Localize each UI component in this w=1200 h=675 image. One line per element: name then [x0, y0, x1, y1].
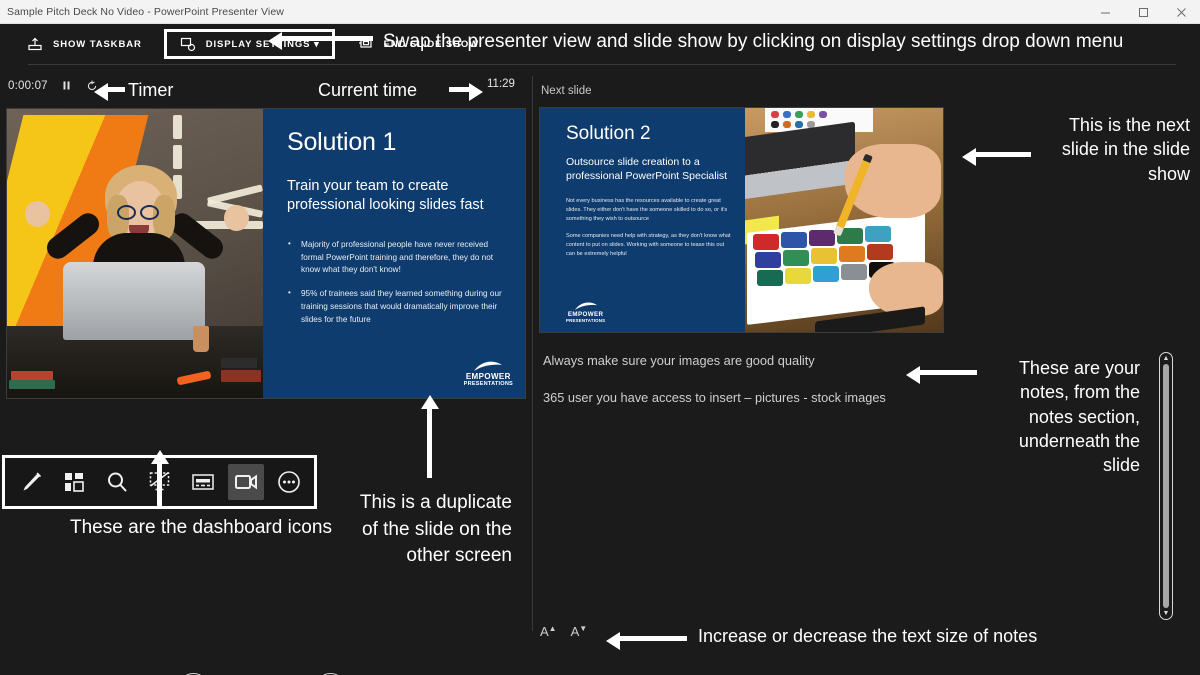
note-line: 365 user you have access to insert – pic…: [543, 389, 963, 406]
taskbar-icon: [26, 35, 44, 53]
annotation-arrowhead: [151, 450, 169, 464]
note-line: Always make sure your images are good qu…: [543, 352, 963, 369]
display-settings-button[interactable]: DISPLAY SETTINGS ▾: [164, 29, 335, 59]
window-titlebar: Sample Pitch Deck No Video - PowerPoint …: [0, 0, 1200, 24]
slide-navigation: Slide 9 of 24: [178, 671, 346, 675]
minimize-icon[interactable]: [1086, 0, 1124, 24]
annotation-dashboard-icons: These are the dashboard icons: [70, 515, 332, 542]
annotation-arrow-line: [157, 463, 162, 507]
next-slide-paragraph: Some companies need help with strategy, …: [566, 232, 733, 259]
close-icon[interactable]: [1162, 0, 1200, 24]
increase-text-size-label: A: [540, 624, 549, 639]
scroll-down-icon[interactable]: ▼: [1163, 610, 1170, 617]
pen-icon[interactable]: [13, 464, 49, 500]
current-slide-bullet: 95% of trainees said they learned someth…: [287, 288, 507, 326]
current-slide-text: Solution 1 Train your team to create pro…: [263, 109, 525, 398]
annotation-arrow-line: [619, 636, 687, 641]
annotation-arrowhead: [421, 395, 439, 409]
timer-value: 0:00:07: [8, 80, 48, 92]
toolbar-divider: [28, 64, 1176, 65]
next-slide-body: Not every business has the resources ava…: [566, 197, 733, 259]
annotation-arrow-line: [919, 370, 977, 375]
next-slide-paragraph: Not every business has the resources ava…: [566, 197, 733, 224]
current-slide-title: Solution 1: [287, 129, 507, 157]
presenter-left-pane: 0:00:07 11:29: [0, 66, 532, 675]
annotation-display-settings: Swap the presenter view and slide show b…: [383, 31, 1123, 53]
annotation-arrowhead: [469, 83, 483, 101]
annotation-duplicate-slide: This is a duplicate of the slide on the …: [340, 490, 512, 570]
annotation-arrowhead: [94, 83, 108, 101]
annotation-arrowhead: [268, 32, 282, 50]
annotation-arrowhead: [906, 366, 920, 384]
timer-group: 0:00:07: [8, 78, 100, 93]
camera-icon[interactable]: [228, 464, 264, 500]
annotation-arrow-line: [427, 408, 432, 478]
empower-presentations-logo: EMPOWER PRESENTATIONS: [464, 360, 513, 388]
current-slide-bullets: Majority of professional people have nev…: [287, 239, 507, 326]
maximize-icon[interactable]: [1124, 0, 1162, 24]
next-slide-text: Solution 2 Outsource slide creation to a…: [540, 108, 745, 332]
logo-line-1: EMPOWER: [464, 372, 513, 381]
scroll-up-icon[interactable]: ▲: [1163, 355, 1170, 362]
slide-counter-group: Slide 9 of 24: [223, 671, 301, 675]
logo-swoosh-icon: [464, 360, 513, 372]
pane-divider: [532, 76, 533, 631]
annotation-text-size: Increase or decrease the text size of no…: [698, 626, 1037, 647]
scrollbar-thumb[interactable]: [1163, 364, 1169, 608]
empower-presentations-logo: EMPOWER PRESENTATIONS: [566, 301, 605, 324]
display-settings-icon: [179, 35, 197, 53]
current-slide-bullet: Majority of professional people have nev…: [287, 239, 507, 277]
current-slide-preview[interactable]: Solution 1 Train your team to create pro…: [6, 108, 526, 399]
next-slide-photo: [745, 108, 943, 332]
next-slide-label: Next slide: [541, 85, 592, 97]
next-slide-subtitle: Outsource slide creation to a profession…: [566, 156, 733, 184]
current-slide-photo: [7, 109, 263, 398]
pause-timer-icon[interactable]: [59, 78, 74, 93]
current-time-value: 11:29: [487, 78, 515, 90]
window-controls: [1086, 0, 1200, 24]
captions-icon[interactable]: [185, 464, 221, 500]
logo-line-2: PRESENTATIONS: [566, 318, 605, 324]
logo-swoosh-icon: [566, 301, 605, 311]
window-title: Sample Pitch Deck No Video - PowerPoint …: [0, 6, 284, 18]
decrease-text-size-label: A: [571, 624, 580, 639]
logo-line-2: PRESENTATIONS: [464, 381, 513, 388]
notes-text-size-group: A▲ A▼: [540, 624, 587, 639]
annotation-notes: These are your notes, from the notes sec…: [985, 356, 1140, 477]
show-taskbar-label: SHOW TASKBAR: [53, 39, 142, 50]
annotation-arrow-line: [449, 87, 471, 92]
annotation-current-time: Current time: [318, 80, 417, 101]
annotation-arrow-line: [107, 87, 125, 92]
current-slide-subtitle: Train your team to create professional l…: [287, 177, 507, 216]
increase-text-size-button[interactable]: A▲: [540, 624, 557, 639]
show-taskbar-button[interactable]: SHOW TASKBAR: [14, 30, 154, 58]
annotation-arrowhead: [962, 148, 976, 166]
more-options-icon[interactable]: [271, 464, 307, 500]
annotation-arrow-line: [975, 152, 1031, 157]
notes-scrollbar[interactable]: ▲ ▼: [1159, 352, 1173, 620]
next-slide-preview[interactable]: Solution 2 Outsource slide creation to a…: [539, 107, 944, 333]
annotation-timer: Timer: [128, 80, 173, 101]
logo-line-1: EMPOWER: [566, 311, 605, 318]
annotation-arrow-line: [281, 36, 373, 41]
notes-pane[interactable]: Always make sure your images are good qu…: [543, 352, 963, 427]
decrease-text-size-button[interactable]: A▼: [571, 624, 588, 639]
grid-slides-icon[interactable]: [56, 464, 92, 500]
magnifier-icon[interactable]: [99, 464, 135, 500]
next-slide-title: Solution 2: [566, 124, 733, 145]
annotation-arrowhead: [606, 632, 620, 650]
annotation-next-slide: This is the next slide in the slide show: [1040, 113, 1190, 186]
